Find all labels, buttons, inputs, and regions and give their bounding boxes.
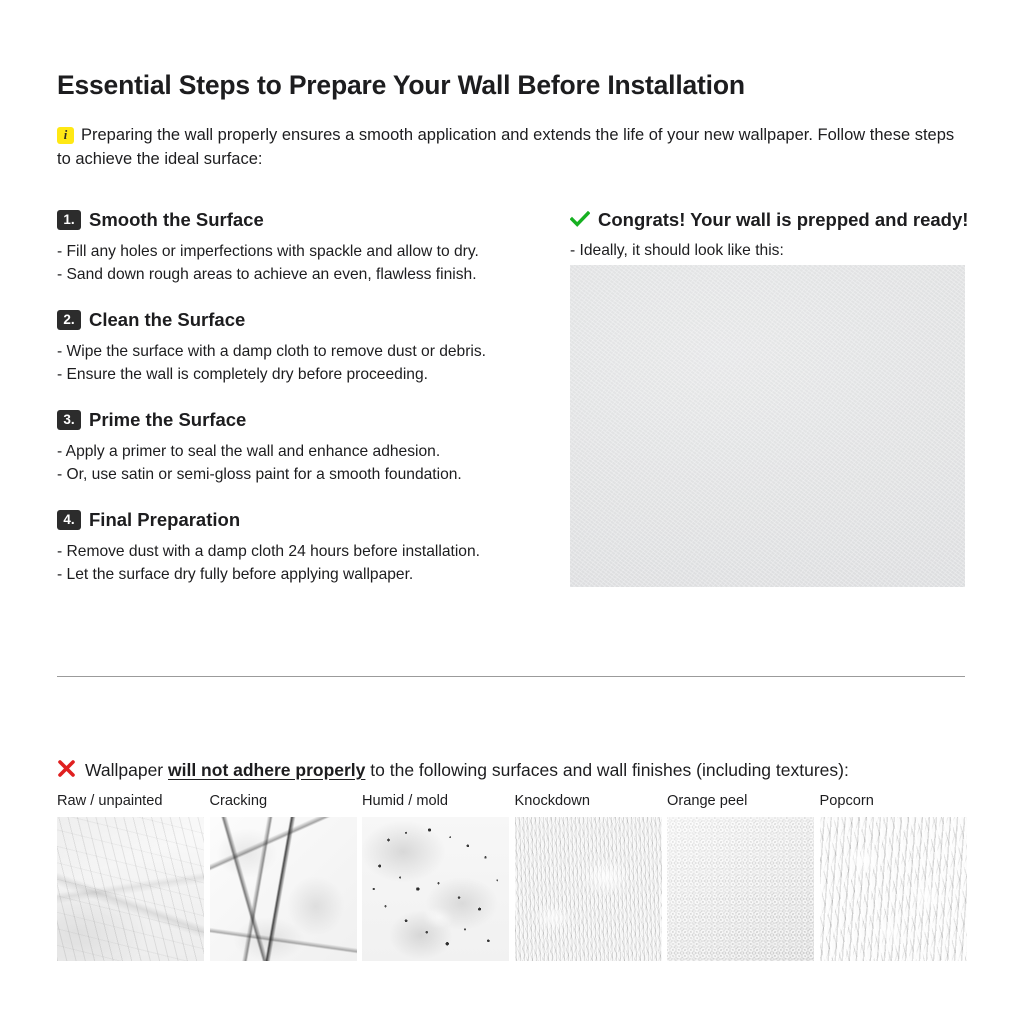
popcorn-texture-image (820, 817, 967, 961)
intro-text: Preparing the wall properly ensures a sm… (57, 126, 954, 168)
orange-peel-texture-image (667, 817, 814, 961)
wall-prep-guide-page: Essential Steps to Prepare Your Wall Bef… (0, 0, 1024, 1024)
bad-heading-part2: to the following surfaces and wall finis… (365, 760, 848, 780)
thumbnail-item: Humid / mold (362, 792, 509, 961)
raw-unpainted-texture-image (57, 817, 204, 961)
step-item: 2.Clean the Surface - Wipe the surface w… (57, 308, 537, 386)
intro-paragraph: iPreparing the wall properly ensures a s… (57, 123, 972, 171)
congrats-heading-text: Congrats! Your wall is prepped and ready… (598, 209, 968, 230)
step-heading-text: Smooth the Surface (89, 209, 264, 230)
thumbnail-label: Cracking (210, 792, 357, 810)
thumbnail-item: Knockdown (515, 792, 662, 961)
step-heading-text: Clean the Surface (89, 309, 245, 330)
knockdown-texture-image (515, 817, 662, 961)
step-number-badge: 1. (57, 210, 81, 230)
red-x-icon (57, 759, 76, 784)
step-bullet: - Apply a primer to seal the wall and en… (57, 440, 537, 463)
congrats-heading: Congrats! Your wall is prepped and ready… (570, 208, 972, 233)
bad-heading-part1: Wallpaper (85, 760, 168, 780)
page-title: Essential Steps to Prepare Your Wall Bef… (57, 70, 745, 101)
step-heading: 2.Clean the Surface (57, 308, 537, 332)
thumbnail-item: Raw / unpainted (57, 792, 204, 961)
step-number-badge: 3. (57, 410, 81, 430)
step-heading: 3.Prime the Surface (57, 408, 537, 432)
bad-surface-thumbnails: Raw / unpainted Cracking Humid / mold Kn… (57, 792, 965, 961)
step-bullet: - Let the surface dry fully before apply… (57, 563, 537, 586)
step-number-badge: 2. (57, 310, 81, 330)
bad-surfaces-heading: Wallpaper will not adhere properly to th… (57, 758, 849, 784)
thumbnail-item: Orange peel (667, 792, 814, 961)
step-bullet: - Remove dust with a damp cloth 24 hours… (57, 540, 537, 563)
info-icon: i (57, 127, 74, 144)
thumbnail-label: Raw / unpainted (57, 792, 204, 810)
step-bullet: - Sand down rough areas to achieve an ev… (57, 263, 537, 286)
step-bullet: - Fill any holes or imperfections with s… (57, 240, 537, 263)
thumbnail-item: Cracking (210, 792, 357, 961)
bad-heading-emphasis: will not adhere properly (168, 760, 365, 780)
thumbnail-label: Humid / mold (362, 792, 509, 810)
step-bullet: - Wipe the surface with a damp cloth to … (57, 340, 537, 363)
step-number-badge: 4. (57, 510, 81, 530)
section-divider (57, 676, 965, 677)
thumbnail-label: Popcorn (820, 792, 967, 810)
green-check-icon (570, 209, 590, 233)
step-heading-text: Prime the Surface (89, 409, 246, 430)
step-item: 1.Smooth the Surface - Fill any holes or… (57, 208, 537, 286)
congrats-subtext: - Ideally, it should look like this: (570, 239, 972, 262)
step-heading: 1.Smooth the Surface (57, 208, 537, 232)
prepped-wall-image (570, 265, 965, 587)
step-bullet: - Ensure the wall is completely dry befo… (57, 363, 537, 386)
thumbnail-item: Popcorn (820, 792, 967, 961)
step-bullet: - Or, use satin or semi-gloss paint for … (57, 463, 537, 486)
cracking-texture-image (210, 817, 357, 961)
thumbnail-label: Orange peel (667, 792, 814, 810)
steps-column: 1.Smooth the Surface - Fill any holes or… (57, 208, 537, 586)
thumbnail-label: Knockdown (515, 792, 662, 810)
step-heading: 4.Final Preparation (57, 508, 537, 532)
step-item: 4.Final Preparation - Remove dust with a… (57, 508, 537, 586)
good-wall-column: Congrats! Your wall is prepped and ready… (570, 208, 972, 262)
step-heading-text: Final Preparation (89, 509, 240, 530)
humid-mold-texture-image (362, 817, 509, 961)
step-item: 3.Prime the Surface - Apply a primer to … (57, 408, 537, 486)
